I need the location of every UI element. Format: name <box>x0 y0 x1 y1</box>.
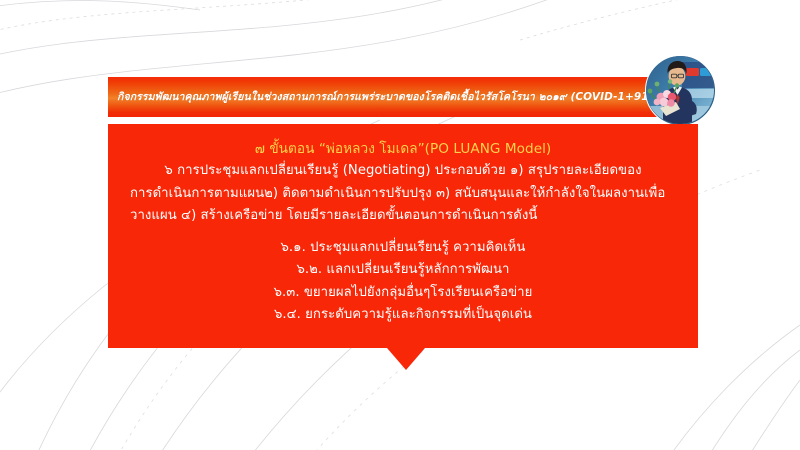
slide-canvas: กิจกรรมพัฒนาคุณภาพผู้เรียนในช่วงสถานการณ… <box>0 0 800 450</box>
sub-step-list: ๖.๑. ประชุมแลกเปลี่ยนเรียนรู้ ความคิดเห็… <box>130 237 676 327</box>
header-title: กิจกรรมพัฒนาคุณภาพผู้เรียนในช่วงสถานการณ… <box>117 91 661 104</box>
paragraph-line-1: ๖ การประชุมแลกเปลี่ยนเรียนรู้ (Negotiati… <box>130 160 676 182</box>
paragraph-line-2: การดำเนินการตามแผน๒) ติดตามดำเนินการปรับ… <box>130 183 676 205</box>
list-item: ๖.๒. แลกเปลี่ยนเรียนรู้หลักการพัฒนา <box>130 259 676 282</box>
header-ribbon: กิจกรรมพัฒนาคุณภาพผู้เรียนในช่วงสถานการณ… <box>108 77 698 117</box>
content-heading: ๗ ขั้นตอน “พ่อหลวง โมเดล”(PO LUANG Model… <box>130 138 676 160</box>
list-item: ๖.๓. ขยายผลไปยังกลุ่มอื่นๆโรงเรียนเครือข… <box>130 282 676 305</box>
list-item: ๖.๔. ยกระดับความรู้และกิจกรรมที่เป็นจุดเ… <box>130 304 676 327</box>
list-item: ๖.๑. ประชุมแลกเปลี่ยนเรียนรู้ ความคิดเห็… <box>130 237 676 260</box>
panel-pointer-triangle-icon <box>387 348 425 370</box>
avatar <box>645 55 716 126</box>
paragraph-line-3: วางแผน ๔) สร้างเครือข่าย โดยมีรายละเอียด… <box>130 205 676 227</box>
content-panel: ๗ ขั้นตอน “พ่อหลวง โมเดล”(PO LUANG Model… <box>108 124 698 348</box>
